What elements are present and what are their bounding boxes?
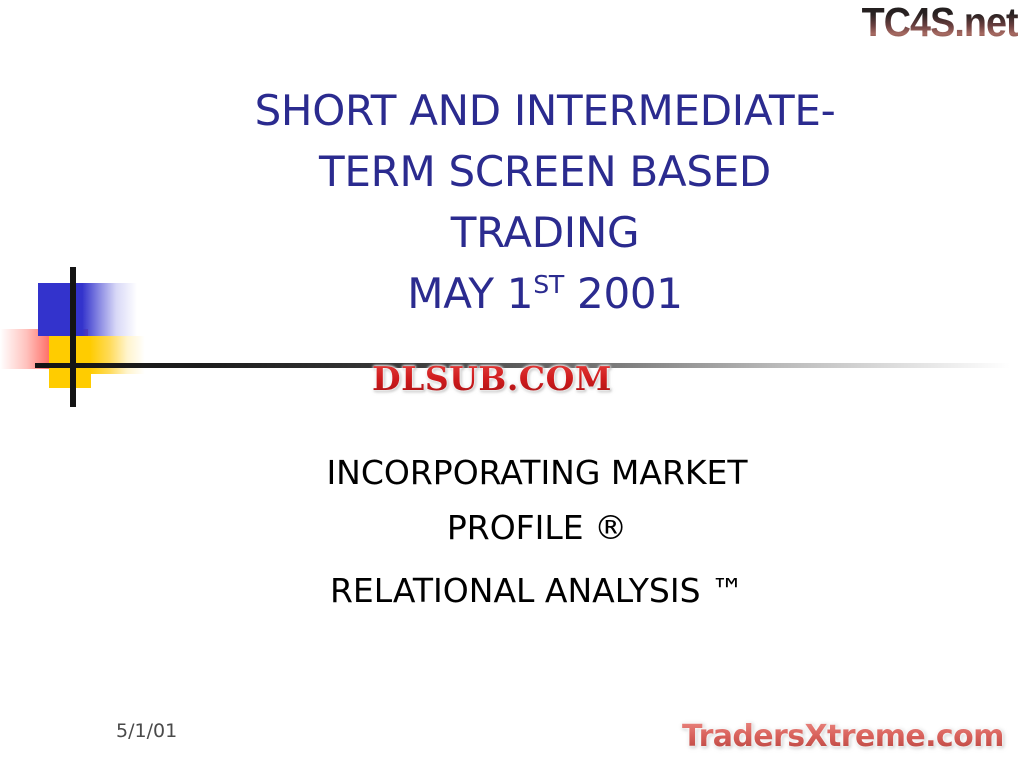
subtitle-line-1: INCORPORATING MARKET [112,445,962,500]
tc4s-logo: TC4S.net [862,2,1018,43]
subtitle-line-2: PROFILE ® [112,500,962,555]
dlsub-watermark: DLSUB.COM [372,362,612,395]
title-date-year: 2001 [564,269,683,318]
decorative-blue-square [38,283,83,336]
title-line-1: SHORT AND INTERMEDIATE- [120,80,970,141]
subtitle-spacer [112,555,962,563]
title-date-ordinal-suffix: ST [533,270,564,299]
title-date-prefix: MAY 1 [407,269,533,318]
tradersxtreme-watermark: TradersXtreme.com [682,722,1004,752]
decorative-vertical-line [70,267,76,407]
subtitle-line-3: RELATIONAL ANALYSIS ™ [112,563,962,618]
decorative-yellow-fade [90,336,145,374]
slide-date-stamp: 5/1/01 [116,720,177,742]
title-line-3: TRADING [120,202,970,263]
slide-subtitle: INCORPORATING MARKET PROFILE ® RELATIONA… [112,445,962,618]
presentation-slide: TC4S.net SHORT AND INTERMEDIATE- TERM SC… [0,0,1024,768]
title-line-4: MAY 1ST 2001 [120,263,970,324]
title-line-2: TERM SCREEN BASED [120,141,970,202]
slide-title: SHORT AND INTERMEDIATE- TERM SCREEN BASE… [120,80,970,324]
